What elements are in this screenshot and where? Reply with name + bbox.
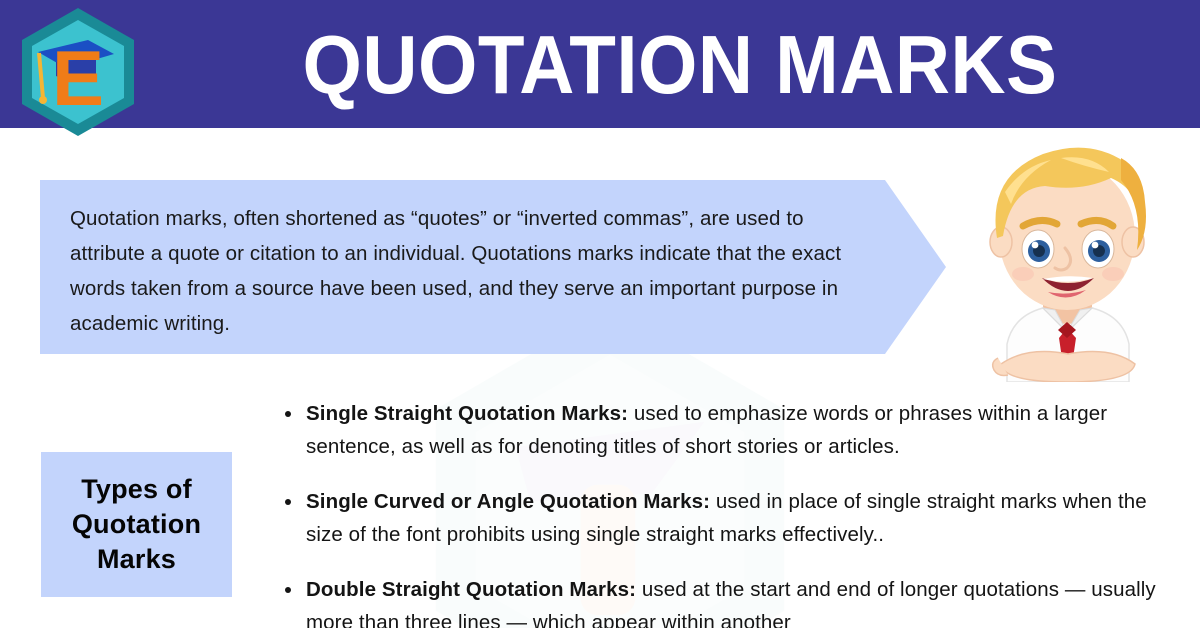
types-bullet-list: Single Straight Quotation Marks: used to…: [281, 397, 1181, 628]
intro-callout: Quotation marks, often shortened as “quo…: [40, 180, 946, 354]
list-item-term: Double Straight Quotation Marks:: [306, 578, 636, 601]
svg-text:E: E: [52, 34, 104, 122]
types-label-box: Types of Quotation Marks: [41, 452, 232, 597]
list-item-term: Single Curved or Angle Quotation Marks:: [306, 490, 710, 513]
list-item-term: Single Straight Quotation Marks:: [306, 402, 628, 425]
list-item: Double Straight Quotation Marks: used at…: [281, 573, 1181, 628]
infographic-page: QUOTATION MARKS E Quotation marks, often…: [0, 0, 1200, 628]
page-title: QUOTATION MARKS: [238, 0, 1121, 128]
page-header: QUOTATION MARKS: [0, 0, 1200, 128]
types-label-text: Types of Quotation Marks: [72, 472, 201, 577]
cartoon-schoolboy-illustration: [935, 132, 1200, 382]
list-item: Single Straight Quotation Marks: used to…: [281, 397, 1181, 463]
site-logo[interactable]: E: [16, 6, 140, 138]
intro-text: Quotation marks, often shortened as “quo…: [70, 201, 875, 341]
list-item: Single Curved or Angle Quotation Marks: …: [281, 485, 1181, 551]
